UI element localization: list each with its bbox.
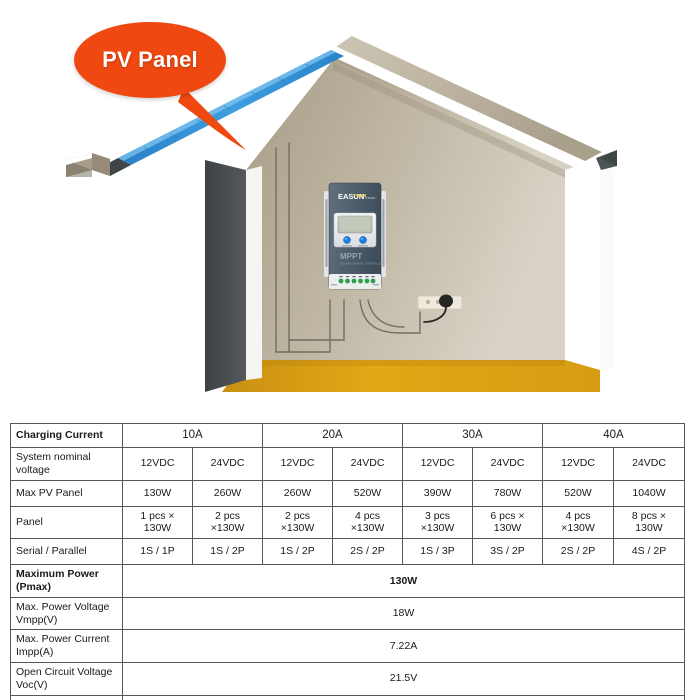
button-right-hilite — [361, 238, 363, 240]
cell: 780W — [473, 480, 543, 506]
mppt-subtitle: SOLAR CHARGE CONTROLLER — [340, 262, 384, 266]
cell: 1040W — [614, 480, 685, 506]
table-row: System nominal voltage 12VDC 24VDC 12VDC… — [11, 448, 685, 481]
cell: 1S / 2P — [193, 539, 263, 565]
specification-table: Charging Current 10A 20A 30A 40A System … — [10, 423, 685, 700]
left-white-pillar — [246, 166, 262, 380]
table-row: Max. Power Current Impp(A) 7.22A — [11, 630, 685, 663]
cell: 2 pcs ×130W — [193, 506, 263, 539]
table-header-row: Charging Current 10A 20A 30A 40A — [11, 424, 685, 448]
cell: 130W — [123, 565, 685, 598]
socket-hole-left — [426, 300, 430, 304]
cell: 24VDC — [614, 448, 685, 481]
cell: 12VDC — [543, 448, 614, 481]
row-label: Serial / Parallel — [11, 539, 123, 565]
cell: 3 pcs ×130W — [403, 506, 473, 539]
table-row: Panel 1 pcs × 130W 2 pcs ×130W 2 pcs ×13… — [11, 506, 685, 539]
terminal-label-right — [373, 284, 379, 285]
header-label-cell: Charging Current — [11, 424, 123, 448]
cell: 4 pcs ×130W — [543, 506, 614, 539]
mppt-charge-controller: EASUN POWER Tracer MPPT SOLAR CHARGE CON… — [324, 181, 386, 299]
cell: 7.22A — [123, 630, 685, 663]
cell: 24VDC — [333, 448, 403, 481]
solar-house-illustration: EASUN POWER Tracer MPPT SOLAR CHARGE CON… — [0, 0, 700, 412]
table-row: Short Circuit Current Isc(A) 7.79A — [11, 695, 685, 700]
cell: 130W — [123, 480, 193, 506]
row-label: Open Circuit Voltage Voc(V) — [11, 662, 123, 695]
cell: 21.5V — [123, 662, 685, 695]
group-header-20a: 20A — [263, 424, 403, 448]
group-header-40a: 40A — [543, 424, 685, 448]
lcd-inner — [340, 218, 371, 232]
button-right-label — [358, 245, 368, 247]
cell: 520W — [543, 480, 614, 506]
button-left-hilite — [345, 238, 347, 240]
cell: 260W — [263, 480, 333, 506]
cell: 1S / 3P — [403, 539, 473, 565]
cell: 6 pcs × 130W — [473, 506, 543, 539]
row-label: Max. Power Current Impp(A) — [11, 630, 123, 663]
cell: 1S / 1P — [123, 539, 193, 565]
cell: 2 pcs ×130W — [263, 506, 333, 539]
cell: 4 pcs ×130W — [333, 506, 403, 539]
table-row: Max. Power Voltage Vmpp(V) 18W — [11, 597, 685, 630]
row-label: Max. Power Voltage Vmpp(V) — [11, 597, 123, 630]
cell: 520W — [333, 480, 403, 506]
cell: 18W — [123, 597, 685, 630]
cell: 4S / 2P — [614, 539, 685, 565]
cell: 2S / 2P — [543, 539, 614, 565]
table-row: Serial / Parallel 1S / 1P 1S / 2P 1S / 2… — [11, 539, 685, 565]
group-header-10a: 10A — [123, 424, 263, 448]
cell: 24VDC — [473, 448, 543, 481]
cell: 8 pcs × 130W — [614, 506, 685, 539]
terminal-label-left — [331, 284, 337, 285]
cell: 24VDC — [193, 448, 263, 481]
cell: 1S / 2P — [263, 539, 333, 565]
table-row: Open Circuit Voltage Voc(V) 21.5V — [11, 662, 685, 695]
plug-icon — [439, 295, 453, 308]
inner-right-return-wall — [565, 158, 600, 370]
group-header-30a: 30A — [403, 424, 543, 448]
button-right — [359, 236, 366, 243]
row-label: System nominal voltage — [11, 448, 123, 481]
model-tracer: Tracer — [364, 195, 376, 200]
cell: 7.79A — [123, 695, 685, 700]
cell: 12VDC — [123, 448, 193, 481]
bracket-right-slot — [383, 199, 385, 267]
controller-svg: EASUN POWER Tracer MPPT SOLAR CHARGE CON… — [324, 181, 386, 299]
left-exterior-wall — [205, 160, 246, 392]
floor-shadow-strip — [246, 360, 565, 366]
cell: 260W — [193, 480, 263, 506]
specification-table-container: Charging Current 10A 20A 30A 40A System … — [10, 423, 684, 700]
bracket-left-slot — [326, 199, 328, 267]
cell: 12VDC — [263, 448, 333, 481]
cell: 1 pcs × 130W — [123, 506, 193, 539]
mppt-label: MPPT — [340, 252, 362, 261]
page-root: EASUN POWER Tracer MPPT SOLAR CHARGE CON… — [0, 0, 700, 700]
cell: 390W — [403, 480, 473, 506]
cell: 2S / 2P — [333, 539, 403, 565]
right-white-pillar — [600, 153, 614, 370]
button-left — [343, 236, 350, 243]
table-row: Max PV Panel 130W 260W 260W 520W 390W 78… — [11, 480, 685, 506]
row-label: Short Circuit Current Isc(A) — [11, 695, 123, 700]
table-row: Maximum Power (Pmax) 130W — [11, 565, 685, 598]
cell: 3S / 2P — [473, 539, 543, 565]
cell: 12VDC — [403, 448, 473, 481]
row-label: Max PV Panel — [11, 480, 123, 506]
row-label: Maximum Power (Pmax) — [11, 565, 123, 598]
button-left-label — [342, 245, 352, 247]
row-label: Panel — [11, 506, 123, 539]
